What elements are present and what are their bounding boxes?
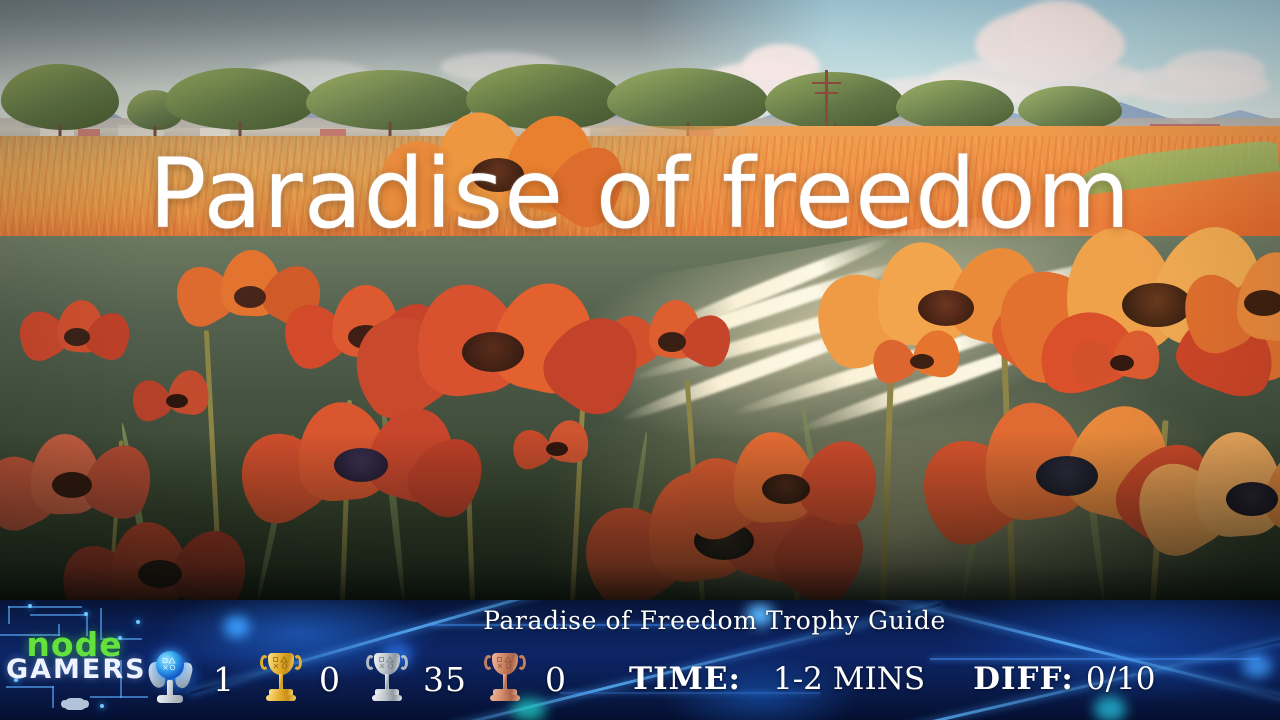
gold-trophy-icon xyxy=(261,651,301,707)
silver-trophy-count: 35 xyxy=(423,660,467,699)
node-gamers-logo[interactable]: node GAMERS xyxy=(0,600,149,720)
cloud xyxy=(1010,0,1106,60)
gold-trophy-count: 0 xyxy=(319,660,341,699)
poppy-flower-large xyxy=(1160,430,1280,570)
time-label: TIME: xyxy=(629,661,741,697)
poppy-flower-small xyxy=(1080,330,1160,390)
logo-gamers-text: GAMERS xyxy=(6,656,143,683)
trophy-guide-thumbnail: Paradise of freedom xyxy=(0,0,1280,720)
bronze-trophy-icon xyxy=(485,651,525,707)
artwork-title: Paradise of freedom xyxy=(0,146,1280,242)
poppy-flower-large xyxy=(262,400,462,540)
platinum-trophy-stat: 1 xyxy=(149,650,235,708)
poppy-flower xyxy=(1200,250,1280,360)
difficulty-value: 0/10 xyxy=(1086,661,1156,697)
difficulty-label: DIFF: xyxy=(973,661,1074,697)
poppy-flower-small xyxy=(520,420,590,472)
game-artwork: Paradise of freedom xyxy=(0,0,1280,600)
poppy-flower xyxy=(30,300,120,370)
gold-trophy-stat: 0 xyxy=(261,651,341,707)
playstation-symbols-icon xyxy=(162,657,179,671)
poppy-flower xyxy=(0,430,140,540)
playstation-symbols-icon xyxy=(272,656,290,669)
trophy-stats-row: 1 0 xyxy=(149,648,1280,710)
silver-trophy-icon xyxy=(367,651,407,707)
platinum-trophy-count: 1 xyxy=(213,660,235,699)
bronze-trophy-stat: 0 xyxy=(485,651,567,707)
playstation-symbols-icon xyxy=(496,656,514,669)
poppy-flower xyxy=(700,430,870,550)
playstation-symbols-icon xyxy=(378,656,396,669)
playstation-controller-icon xyxy=(64,698,86,710)
poppy-flower-small xyxy=(140,370,210,424)
platinum-trophy-icon xyxy=(149,650,191,708)
bronze-trophy-count: 0 xyxy=(545,660,567,699)
silver-trophy-stat: 35 xyxy=(367,651,467,707)
time-value: 1-2 MINS xyxy=(773,661,925,697)
poppy-flower-small xyxy=(880,330,960,388)
guide-title: Paradise of Freedom Trophy Guide xyxy=(149,606,1280,635)
